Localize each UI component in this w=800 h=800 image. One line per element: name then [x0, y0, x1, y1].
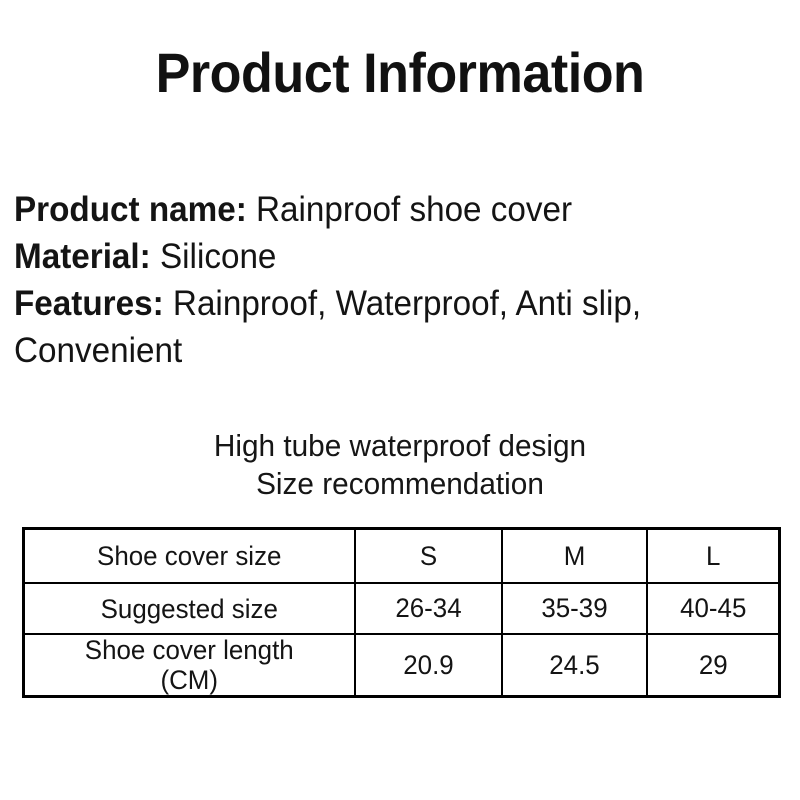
product-information-page: Product Information Product name: Rainpr…: [0, 0, 800, 800]
spec-row-product-name: Product name: Rainproof shoe cover: [14, 186, 747, 233]
size-recommendation-heading: High tube waterproof design Size recomme…: [16, 427, 784, 503]
size-recommendation-table: Shoe cover size S M L Suggested size: [22, 527, 781, 698]
subheading-line-design: High tube waterproof design: [16, 427, 784, 465]
subheading-line-size-recommendation: Size recommendation: [16, 465, 784, 503]
table-cell-shoe-cover-length-m: 24.5: [502, 634, 647, 697]
table-cell-shoe-cover-length-s: 20.9: [355, 634, 502, 697]
table-cell-header-size-l: L: [647, 529, 780, 584]
table-cell-suggested-size-s: 26-34: [355, 583, 502, 634]
spec-label-features: Features:: [14, 284, 164, 323]
spec-row-material: Material: Silicone: [14, 233, 747, 280]
table-row-shoe-cover-length: Shoe cover length (CM) 20.9 24.5 29: [24, 634, 780, 697]
product-spec-list: Product name: Rainproof shoe cover Mater…: [14, 186, 747, 374]
table-cell-header-size-m: M: [502, 529, 647, 584]
size-table-container: Shoe cover size S M L Suggested size: [22, 527, 778, 698]
table-cell-suggested-size-l: 40-45: [647, 583, 780, 634]
spec-value-product-name: Rainproof shoe cover: [256, 190, 572, 229]
table-cell-suggested-size-m: 35-39: [502, 583, 647, 634]
table-cell-header-label: Shoe cover size: [24, 529, 355, 584]
spec-row-features: Features: Rainproof, Waterproof, Anti sl…: [14, 280, 747, 374]
table-cell-shoe-cover-length-label: Shoe cover length (CM): [24, 634, 355, 697]
table-cell-shoe-cover-length-l: 29: [647, 634, 780, 697]
spec-label-material: Material:: [14, 237, 151, 276]
table-row-header: Shoe cover size S M L: [24, 529, 780, 584]
spec-value-material: Silicone: [160, 237, 276, 276]
spec-label-product-name: Product name:: [14, 190, 247, 229]
page-title: Product Information: [28, 42, 772, 104]
table-cell-header-size-s: S: [355, 529, 502, 584]
table-cell-suggested-size-label: Suggested size: [24, 583, 355, 634]
table-row-suggested-size: Suggested size 26-34 35-39 40-45: [24, 583, 780, 634]
